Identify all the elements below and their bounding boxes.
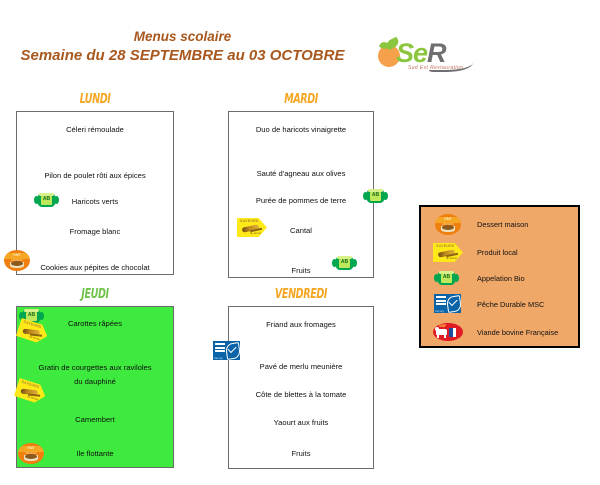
dessert-icon-top-text: FAIT: [4, 253, 30, 257]
dessert-maison-icon: FAIT MAISON: [4, 250, 30, 271]
dessert-maison-icon: FAIT MAISON: [435, 214, 461, 235]
day-title-jeudi: JEUDI: [30, 287, 160, 302]
bio-icon: AB: [437, 271, 456, 285]
dessert-icon-food: [11, 261, 23, 266]
msc-icon: msc.org: [213, 341, 240, 360]
msc-icon-lines: [436, 296, 446, 308]
vbf-icon-top-text: VBF: [439, 324, 446, 328]
page-header: Menus scolaire Semaine du 28 SEPTEMBRE a…: [0, 28, 600, 83]
menu-item: Pilon de poulet rôti aux épices: [17, 171, 173, 180]
menu-panel-vendredi: Friand aux fromages Pavé de merlu meuniè…: [228, 306, 374, 469]
legend-row: SAVEURS du terroir Produit local: [421, 240, 578, 266]
bio-icon: AB: [37, 193, 56, 207]
page-title-line2: Semaine du 28 SEPTEMBRE au 03 OCTOBRE: [0, 46, 365, 66]
msc-icon: msc.org: [434, 294, 461, 313]
menu-item: Cookies aux pépites de chocolat: [17, 263, 173, 272]
menu-panel-lundi: Céleri rémoulade Pilon de poulet rôti au…: [16, 111, 174, 275]
dessert-icon-food: [442, 225, 454, 230]
viande-bovine-francaise-icon: VBF: [433, 323, 463, 341]
day-title-mardi: MARDI: [241, 92, 361, 107]
vbf-icon-flag: [449, 328, 460, 337]
legend-label: Produit local: [477, 248, 518, 257]
legend-row: FAIT MAISON Dessert maison: [421, 212, 578, 238]
dessert-icon-top-text: FAIT: [18, 446, 44, 450]
legend-row: AB Appelation Bio: [421, 267, 578, 293]
menu-item: Céleri rémoulade: [17, 125, 173, 134]
local-icon-bottom-text: du terroir: [446, 256, 457, 260]
menu-item: Fromage blanc: [17, 227, 173, 236]
title-block: Menus scolaire Semaine du 28 SEPTEMBRE a…: [0, 28, 365, 66]
legend-row: VBF Viande bovine Française: [421, 320, 578, 346]
local-icon-bottom-text: du terroir: [250, 231, 261, 235]
menu-item: Côte de blettes à la tomate: [229, 390, 373, 399]
menu-item: Gratin de courgettes aux raviloles: [17, 363, 173, 372]
legend-row: msc.org Pêche Durable MSC: [421, 292, 578, 318]
menu-item: Pavé de merlu meunière: [229, 362, 373, 371]
menu-item: Duo de haricots vinaigrette: [229, 125, 373, 134]
menu-item: Purée de pommes de terre: [229, 196, 373, 205]
dessert-icon-top-text: FAIT: [435, 217, 461, 221]
bio-icon-label: AB: [441, 273, 452, 282]
menu-item: du dauphiné: [17, 377, 173, 386]
day-title-vendredi: VENDREDI: [241, 287, 361, 302]
legend-label: Viande bovine Française: [477, 328, 558, 337]
bio-icon-label: AB: [339, 258, 350, 267]
msc-icon-subtext: msc.org: [214, 357, 223, 360]
local-icon-top-text: SAVEURS: [436, 244, 455, 248]
msc-icon-lines: [215, 343, 225, 355]
logo-wordmark-se: Se: [396, 38, 427, 68]
msc-icon-subtext: msc.org: [435, 310, 444, 313]
bio-icon-label: AB: [41, 195, 52, 204]
day-title-lundi: LUNDI: [30, 92, 160, 107]
vbf-icon-cow-head: [435, 327, 439, 331]
vbf-icon-cow-leg: [444, 334, 446, 338]
menu-item: Friand aux fromages: [229, 320, 373, 329]
legend-label: Pêche Durable MSC: [477, 300, 544, 309]
dessert-maison-icon: FAIT MAISON: [18, 443, 44, 464]
menu-item: Fruits: [229, 449, 373, 458]
bio-icon: AB: [335, 256, 354, 270]
vbf-icon-cow-leg: [437, 334, 439, 338]
logo-tagline: Sud Est Restauration: [408, 65, 463, 71]
bio-icon-label: AB: [370, 191, 381, 200]
ser-logo: SeR Sud Est Restauration: [374, 36, 474, 78]
dessert-icon-food: [25, 454, 37, 459]
legend-label: Appelation Bio: [477, 274, 525, 283]
menu-panel-mardi: Duo de haricots vinaigrette Sauté d'agne…: [228, 111, 374, 278]
legend-panel: FAIT MAISON Dessert maison SAVEURS du te…: [419, 205, 580, 348]
produit-local-icon: SAVEURS du terroir: [433, 243, 463, 262]
menu-item: Yaourt aux fruits: [229, 418, 373, 427]
menu-item: Camembert: [17, 415, 173, 424]
menu-item: Sauté d'agneau aux olives: [229, 169, 373, 178]
legend-label: Dessert maison: [477, 220, 528, 229]
local-icon-top-text: SAVEURS: [240, 219, 259, 223]
bio-icon: AB: [366, 189, 385, 203]
page-title-line1: Menus scolaire: [0, 28, 365, 46]
bio-icon-label: AB: [26, 311, 37, 320]
